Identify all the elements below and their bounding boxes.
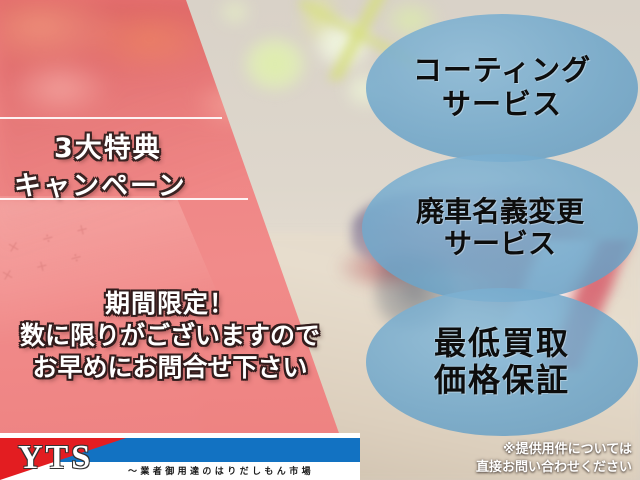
logo-tagline: 〜業者御用達のはりだしもん市場 [128, 464, 314, 477]
promo-line-2: 数に限りがございますので [0, 316, 340, 352]
service-badge-price-guarantee: 最低買取 価格保証 [366, 288, 638, 436]
logo-bar: YTS 〜業者御用達のはりだしもん市場 [0, 433, 360, 480]
badge-label-line2: サービス [413, 88, 591, 122]
badge-label-line1: コーティング [413, 54, 591, 88]
promo-line-3: お早めにお問合せ下さい [0, 348, 340, 384]
disclaimer-line-2: 直接お問い合わせください [476, 456, 632, 475]
badge-text: 最低買取 価格保証 [434, 325, 570, 399]
badge-label-line1: 廃車名義変更 [416, 196, 584, 228]
divider-line-top [0, 117, 222, 119]
logo-wordmark: YTS [18, 439, 93, 477]
poster-canvas: × ÷ + × + ÷ 3大特典 キャンペーン 期間限定！ 数に限りがございます… [0, 0, 640, 480]
badge-label-line1: 最低買取 [434, 325, 570, 362]
badge-text: 廃車名義変更 サービス [416, 196, 584, 261]
campaign-headline-line1: 3大特典 [54, 126, 162, 165]
disclaimer-line-1: ※提供用件については [503, 438, 632, 457]
divider-line-bottom [0, 198, 248, 200]
promo-line-1: 期間限定！ [0, 284, 340, 320]
service-badge-coating: コーティング サービス [366, 14, 638, 162]
service-badge-scrap-title-transfer: 廃車名義変更 サービス [362, 154, 638, 302]
badge-label-line2: サービス [416, 228, 584, 260]
badge-text: コーティング サービス [413, 54, 591, 121]
badge-label-line2: 価格保証 [434, 362, 570, 399]
